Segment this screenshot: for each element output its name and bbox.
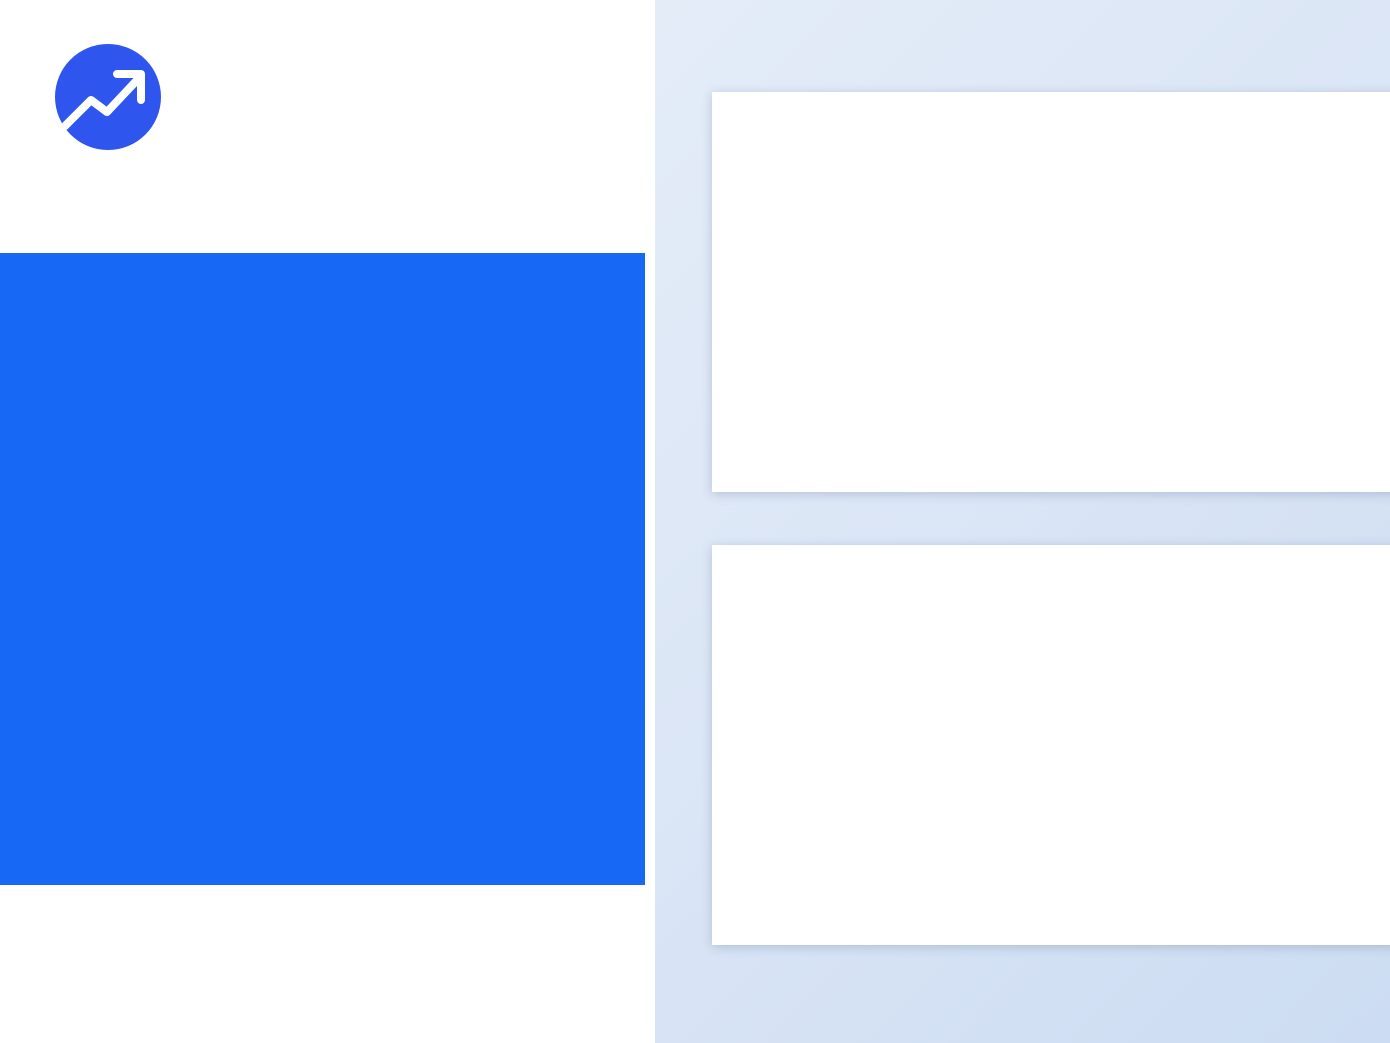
background-panel-blue (0, 253, 645, 885)
growth-arrow-circle-icon (55, 44, 161, 150)
intro-panel (58, 300, 648, 336)
brand-logo (55, 38, 455, 153)
dashboard-sheet-overview[interactable] (712, 92, 1390, 492)
dashboard-sheet-detail[interactable] (712, 545, 1390, 945)
